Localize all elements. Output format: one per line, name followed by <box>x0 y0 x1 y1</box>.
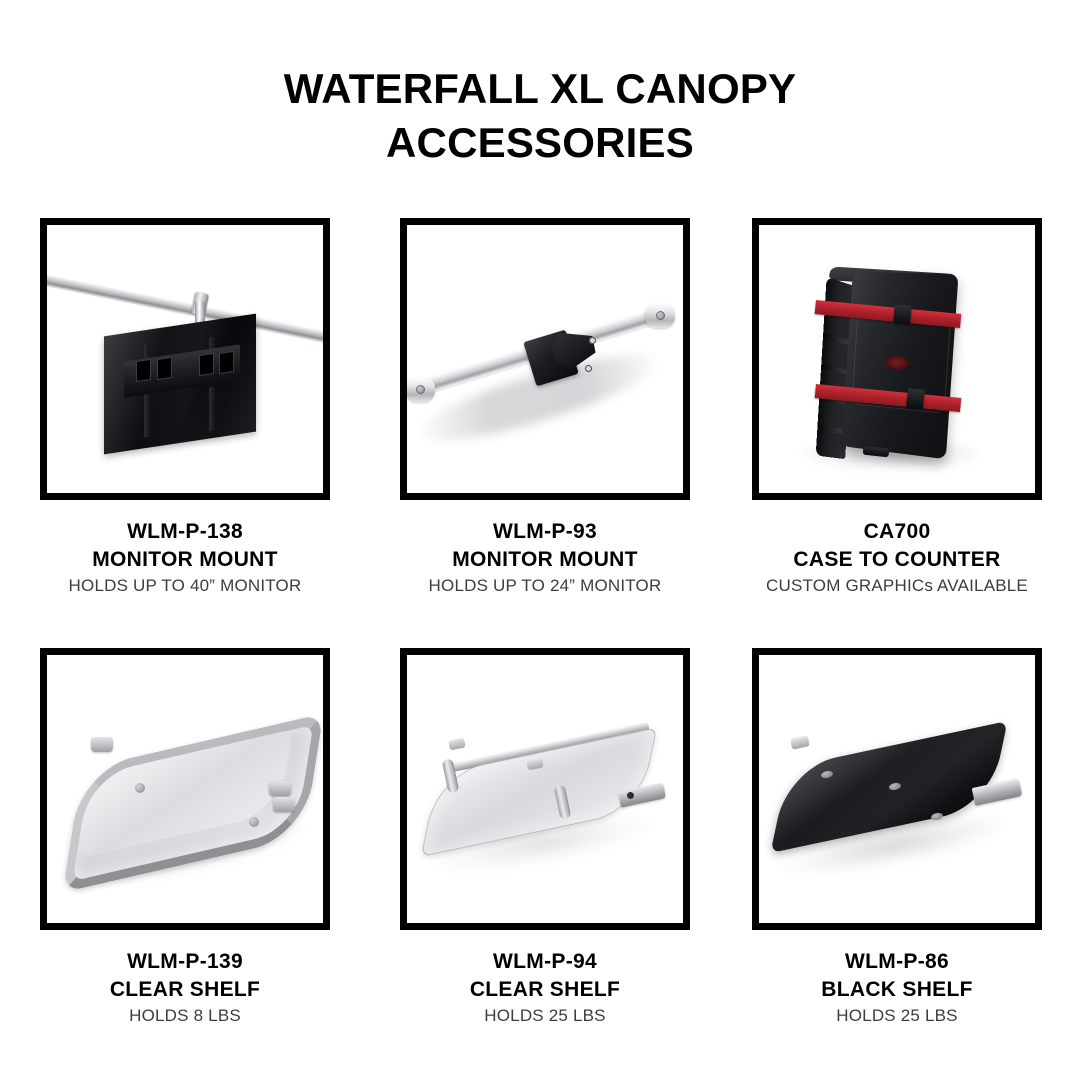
page-title-line-1: WATERFALL XL CANOPY <box>0 62 1080 116</box>
shipping-case-photo <box>759 225 1035 493</box>
clear-shelf-framed-photo <box>47 655 323 923</box>
product-note: HOLDS UP TO 40” MONITOR <box>40 573 330 599</box>
product-card[interactable]: WLM-P-138 MONITOR MOUNT HOLDS UP TO 40” … <box>40 218 330 599</box>
product-image-frame <box>40 218 330 500</box>
product-note: HOLDS UP TO 24” MONITOR <box>400 573 690 599</box>
shelf-clamp-top-left <box>91 737 113 752</box>
page-title: WATERFALL XL CANOPY ACCESSORIES <box>0 62 1080 170</box>
black-shelf-photo <box>759 655 1035 923</box>
product-card[interactable]: WLM-P-139 CLEAR SHELF HOLDS 8 LBS <box>40 648 330 1029</box>
strap-buckle-lower <box>906 388 925 409</box>
product-note: HOLDS 25 LBS <box>400 1003 690 1029</box>
product-image-frame <box>400 218 690 500</box>
product-name: CASE TO COUNTER <box>752 546 1042 574</box>
product-note: HOLDS 25 LBS <box>752 1003 1042 1029</box>
bolt-icon <box>416 385 425 394</box>
product-image-frame <box>752 648 1042 930</box>
product-code: WLM-P-93 <box>400 518 690 546</box>
vesa-slot-3 <box>199 353 214 376</box>
product-card[interactable]: WLM-P-94 CLEAR SHELF HOLDS 25 LBS <box>400 648 690 1029</box>
product-caption: WLM-P-86 BLACK SHELF HOLDS 25 LBS <box>752 948 1042 1029</box>
monitor-mount-on-rail-photo <box>47 225 323 493</box>
vesa-slot-1 <box>136 359 151 382</box>
shelf-clamp-right-upper <box>269 781 291 796</box>
page-title-line-2: ACCESSORIES <box>0 116 1080 170</box>
clear-shelf-acrylic-photo <box>407 655 683 923</box>
product-image-frame <box>752 218 1042 500</box>
product-card[interactable]: WLM-P-86 BLACK SHELF HOLDS 25 LBS <box>752 648 1042 1029</box>
bar-end-cap-left <box>405 377 435 402</box>
shelf-knob-right <box>249 817 259 827</box>
product-name: BLACK SHELF <box>752 976 1042 1004</box>
product-name: CLEAR SHELF <box>40 976 330 1004</box>
product-caption: CA700 CASE TO COUNTER CUSTOM GRAPHICs AV… <box>752 518 1042 599</box>
shelf-clamp-right-lower <box>273 797 295 812</box>
product-card[interactable]: WLM-P-93 MONITOR MOUNT HOLDS UP TO 24” M… <box>400 218 690 599</box>
vesa-hole-2 <box>585 365 592 372</box>
product-caption: WLM-P-139 CLEAR SHELF HOLDS 8 LBS <box>40 948 330 1029</box>
bar-end-cap-right <box>645 303 675 328</box>
strap-buckle-upper <box>893 304 912 325</box>
bracket-arm-right-lower <box>209 387 215 432</box>
product-image-frame <box>40 648 330 930</box>
shelf-knob-left <box>135 783 145 793</box>
product-name: MONITOR MOUNT <box>400 546 690 574</box>
vesa-slot-4 <box>219 351 234 374</box>
bracket-arm-left-lower <box>144 393 150 438</box>
vesa-hole-1 <box>589 337 596 344</box>
product-name: MONITOR MOUNT <box>40 546 330 574</box>
monitor-mount-bar-photo <box>407 225 683 493</box>
product-code: CA700 <box>752 518 1042 546</box>
product-caption: WLM-P-94 CLEAR SHELF HOLDS 25 LBS <box>400 948 690 1029</box>
product-caption: WLM-P-93 MONITOR MOUNT HOLDS UP TO 24” M… <box>400 518 690 599</box>
product-image-frame <box>400 648 690 930</box>
shelf-rail-tab-left <box>448 737 466 750</box>
product-code: WLM-P-139 <box>40 948 330 976</box>
product-note: CUSTOM GRAPHICs AVAILABLE <box>752 573 1042 599</box>
vesa-slot-2 <box>157 357 172 380</box>
accessories-sheet: WATERFALL XL CANOPY ACCESSORIES <box>0 0 1080 1080</box>
product-note: HOLDS 8 LBS <box>40 1003 330 1029</box>
product-code: WLM-P-94 <box>400 948 690 976</box>
product-caption: WLM-P-138 MONITOR MOUNT HOLDS UP TO 40” … <box>40 518 330 599</box>
product-name: CLEAR SHELF <box>400 976 690 1004</box>
shelf-rail-tab-left <box>790 735 810 750</box>
bolt-icon <box>656 311 665 320</box>
product-code: WLM-P-138 <box>40 518 330 546</box>
product-code: WLM-P-86 <box>752 948 1042 976</box>
product-card[interactable]: CA700 CASE TO COUNTER CUSTOM GRAPHICs AV… <box>752 218 1042 599</box>
